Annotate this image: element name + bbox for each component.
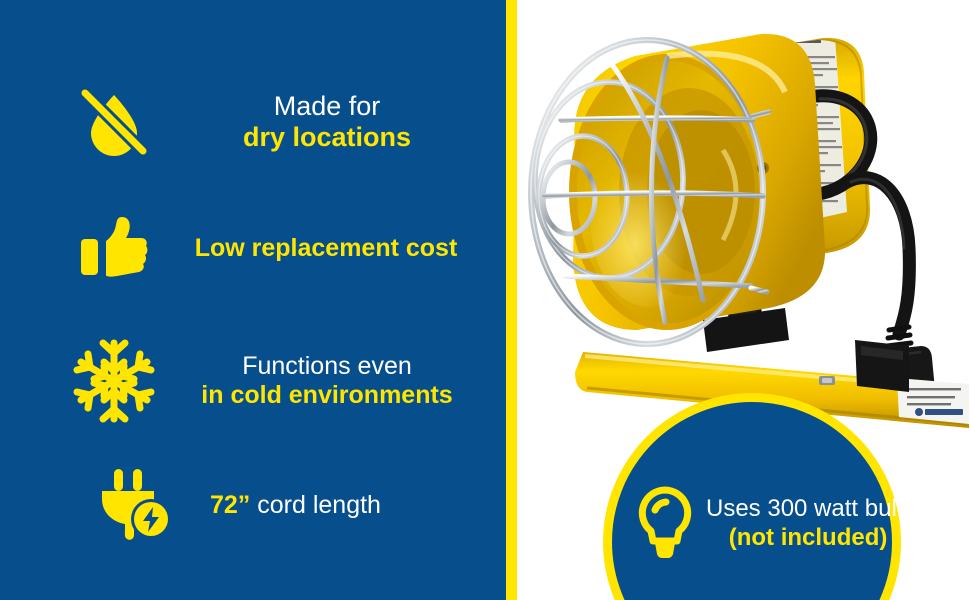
badge-line-2: (not included)	[706, 524, 910, 553]
thumbs-up-icon	[58, 213, 170, 283]
feature-line-1: 72” cord length	[210, 491, 478, 520]
snowflake-icon	[58, 337, 170, 425]
feature-line-1: Made for	[176, 91, 478, 122]
power-plug-bolt-icon	[58, 465, 210, 545]
feature-row-dry-locations: Made for dry locations	[58, 72, 478, 172]
feature-line-1: Low replacement cost	[174, 234, 478, 263]
light-bulb-icon	[628, 486, 702, 562]
feature-row-cold-environments: Functions even in cold environments	[58, 325, 478, 437]
yellow-divider-stripe	[506, 0, 517, 600]
feature-text-cold-environments: Functions even in cold environments	[170, 352, 478, 410]
badge-line-1: Uses 300 watt bulb	[706, 495, 910, 524]
infographic-canvas: Made for dry locations Low replacement c…	[0, 0, 970, 600]
feature-row-low-replacement-cost: Low replacement cost	[58, 200, 478, 296]
no-water-droplet-icon	[58, 85, 170, 159]
feature-row-cord-length: 72” cord length	[58, 455, 478, 555]
feature-line-2: dry locations	[176, 122, 478, 153]
feature-text-dry-locations: Made for dry locations	[170, 91, 478, 154]
cord-length-unit: cord length	[250, 491, 381, 519]
bulb-callout-inner: Uses 300 watt bulb (not included)	[612, 486, 910, 562]
cord-length-value: 72”	[210, 491, 250, 519]
feature-line-1: Functions even	[176, 352, 478, 381]
feature-text-low-replacement-cost: Low replacement cost	[170, 234, 478, 263]
feature-text-cord-length: 72” cord length	[210, 491, 478, 520]
feature-line-2: in cold environments	[176, 381, 478, 410]
bulb-callout-text: Uses 300 watt bulb (not included)	[702, 495, 910, 553]
